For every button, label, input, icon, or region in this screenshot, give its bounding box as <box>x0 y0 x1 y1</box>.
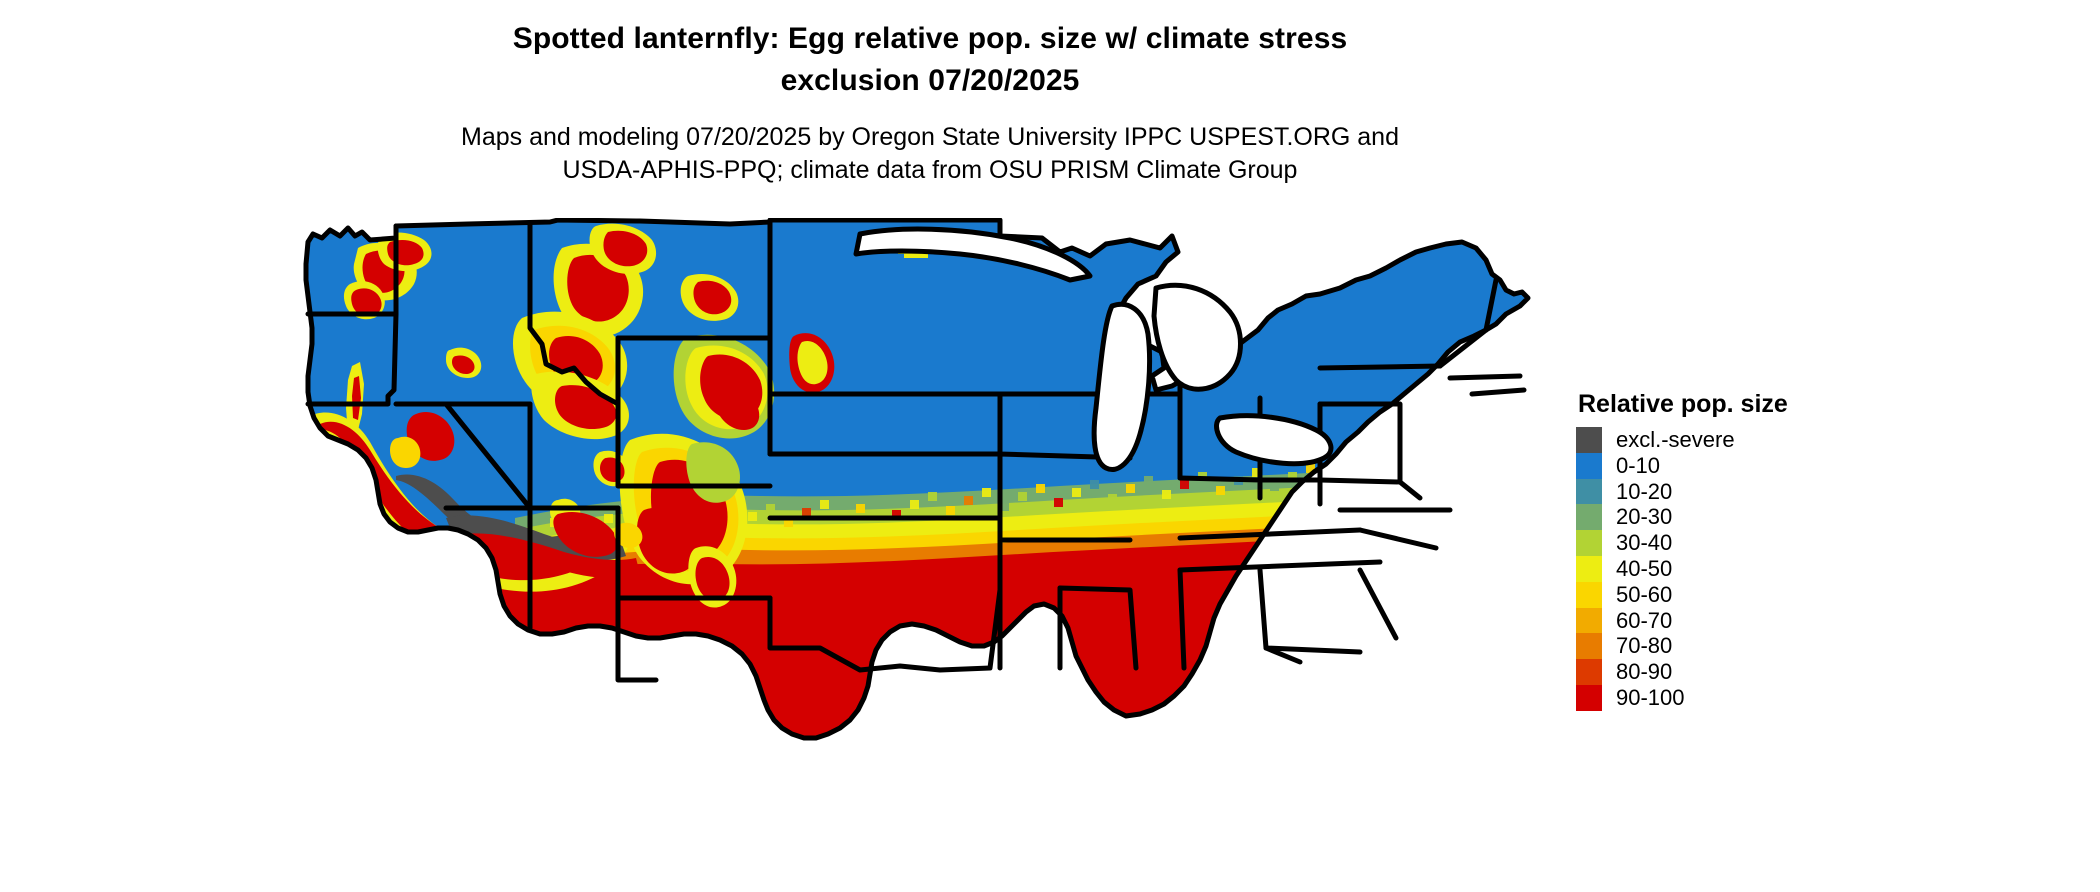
figure-title-line-1: Spotted lanternfly: Egg relative pop. si… <box>513 22 1348 55</box>
legend-rows: excl.-severe 0-10 10-20 20-30 30-40 40-5… <box>1576 427 1896 711</box>
map-svg <box>300 218 1540 880</box>
legend-item-90-100[interactable]: 90-100 <box>1576 685 1896 711</box>
legend-swatch <box>1576 479 1602 505</box>
legend-swatch <box>1576 659 1602 685</box>
legend-label: 20-30 <box>1616 504 1672 530</box>
legend-swatch <box>1576 608 1602 634</box>
figure-subtitle-line-1: Maps and modeling 07/20/2025 by Oregon S… <box>461 123 1399 151</box>
legend-swatch <box>1576 504 1602 530</box>
legend-item-80-90[interactable]: 80-90 <box>1576 659 1896 685</box>
border-pa-ny <box>1320 366 1440 368</box>
border-va-md-wv <box>1320 480 1420 498</box>
legend-label: 0-10 <box>1616 453 1660 479</box>
legend-item-0-10[interactable]: 0-10 <box>1576 453 1896 479</box>
border-ma-ct <box>1450 376 1524 394</box>
legend-item-excl-severe[interactable]: excl.-severe <box>1576 427 1896 453</box>
legend-swatch <box>1576 582 1602 608</box>
legend-swatch <box>1576 427 1602 453</box>
legend-item-40-50[interactable]: 40-50 <box>1576 556 1896 582</box>
border-sc-nc <box>1360 530 1436 548</box>
figure-subtitle: Maps and modeling 07/20/2025 by Oregon S… <box>0 121 1860 187</box>
legend-label: excl.-severe <box>1616 427 1735 453</box>
legend-item-20-30[interactable]: 20-30 <box>1576 504 1896 530</box>
legend-item-10-20[interactable]: 10-20 <box>1576 479 1896 505</box>
figure-title-line-2: exclusion 07/20/2025 <box>781 64 1080 97</box>
figure-title: Spotted lanternfly: Egg relative pop. si… <box>0 18 1860 102</box>
legend-swatch <box>1576 556 1602 582</box>
legend-item-30-40[interactable]: 30-40 <box>1576 530 1896 556</box>
legend-label: 70-80 <box>1616 633 1672 659</box>
legend-label: 30-40 <box>1616 530 1672 556</box>
legend-item-70-80[interactable]: 70-80 <box>1576 633 1896 659</box>
legend-item-60-70[interactable]: 60-70 <box>1576 608 1896 634</box>
map-figure: Spotted lanternfly: Egg relative pop. si… <box>0 0 2100 892</box>
legend-label: 50-60 <box>1616 582 1672 608</box>
legend-title: Relative pop. size <box>1578 390 1896 418</box>
border-ga-sc <box>1360 570 1396 638</box>
legend-label: 60-70 <box>1616 608 1672 634</box>
legend-swatch <box>1576 453 1602 479</box>
red-texas-gulf <box>450 540 1540 880</box>
us-choropleth-map <box>300 218 1540 880</box>
figure-subtitle-line-2: USDA-APHIS-PPQ; climate data from OSU PR… <box>563 156 1298 184</box>
legend-item-50-60[interactable]: 50-60 <box>1576 582 1896 608</box>
legend-label: 40-50 <box>1616 556 1672 582</box>
legend-label: 10-20 <box>1616 479 1672 505</box>
legend-swatch <box>1576 633 1602 659</box>
legend-swatch <box>1576 530 1602 556</box>
legend: Relative pop. size excl.-severe 0-10 10-… <box>1576 390 1896 711</box>
legend-label: 90-100 <box>1616 685 1685 711</box>
legend-swatch <box>1576 685 1602 711</box>
legend-label: 80-90 <box>1616 659 1672 685</box>
